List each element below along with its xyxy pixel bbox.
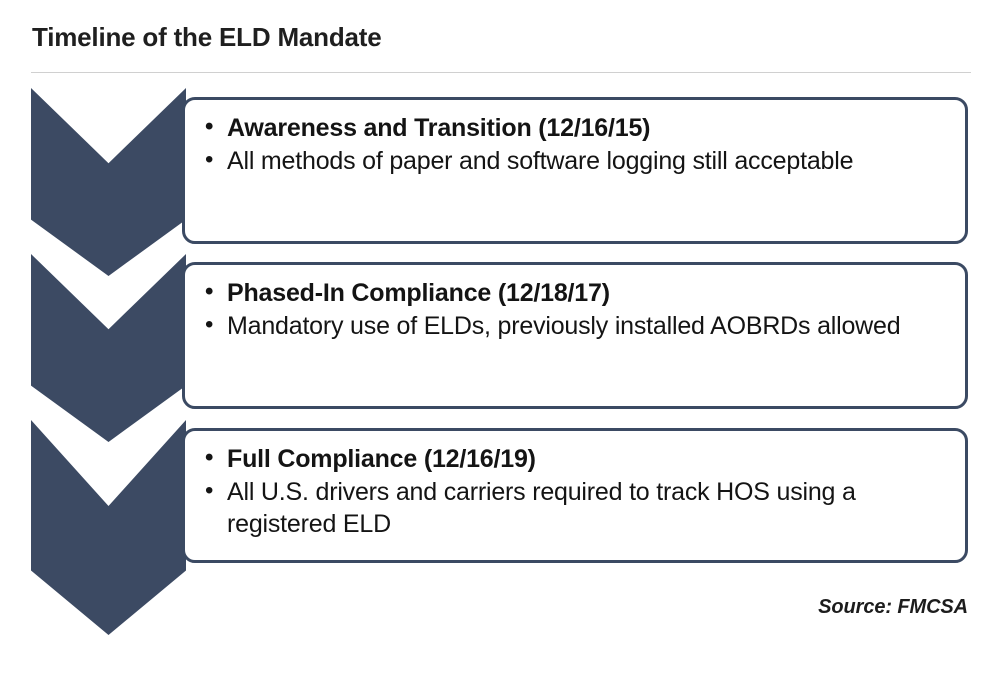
timeline-container: Phase 1 Awareness and Transition (12/16/…	[0, 0, 1000, 686]
phase-detail-1: All methods of paper and software loggin…	[203, 146, 947, 178]
phase-bullet-list-3: Full Compliance (12/16/19) All U.S. driv…	[203, 444, 947, 540]
phase-headline-1: Awareness and Transition (12/16/15)	[203, 113, 947, 145]
phase-content-box-2: Phased-In Compliance (12/18/17) Mandator…	[182, 262, 968, 409]
phase-chevron-2: Phase 2	[31, 254, 186, 442]
phase-chevron-3: Phase 3	[31, 420, 186, 635]
phase-content-box-1: Awareness and Transition (12/16/15) All …	[182, 97, 968, 244]
phase-detail-2: Mandatory use of ELDs, previously instal…	[203, 311, 947, 343]
phase-detail-3: All U.S. drivers and carriers required t…	[203, 477, 947, 541]
timeline-graphic: Timeline of the ELD Mandate Phase 1 Awar…	[0, 0, 1000, 686]
phase-chevron-1: Phase 1	[31, 88, 186, 276]
phase-bullet-list-2: Phased-In Compliance (12/18/17) Mandator…	[203, 278, 947, 343]
source-attribution: Source: FMCSA	[818, 596, 968, 619]
phase-content-box-3: Full Compliance (12/16/19) All U.S. driv…	[182, 428, 968, 563]
phase-headline-2: Phased-In Compliance (12/18/17)	[203, 278, 947, 310]
phase-headline-3: Full Compliance (12/16/19)	[203, 444, 947, 476]
phase-bullet-list-1: Awareness and Transition (12/16/15) All …	[203, 113, 947, 178]
